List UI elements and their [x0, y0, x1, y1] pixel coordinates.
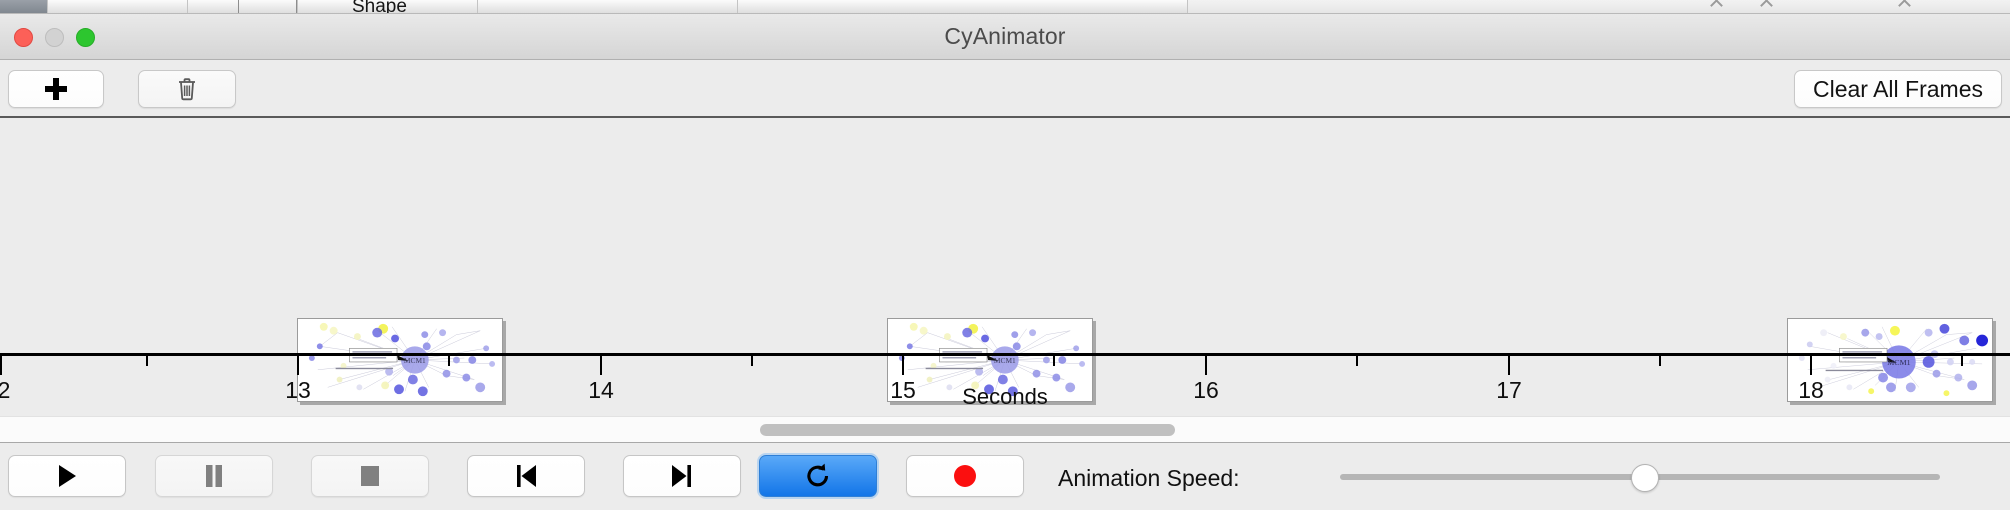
bg-segment: [478, 0, 738, 14]
scrollbar-thumb[interactable]: [760, 424, 1175, 436]
animation-speed-label: Animation Speed:: [1058, 465, 1240, 492]
skip-forward-icon: [669, 464, 695, 488]
axis-tick-minor: [146, 356, 148, 366]
trash-icon: [177, 77, 197, 101]
bg-segment: [738, 0, 1188, 14]
plus-icon: [45, 78, 67, 100]
loop-icon: [804, 462, 832, 490]
axis-tick-minor: [751, 356, 753, 366]
playback-controls: Animation Speed:: [0, 442, 2010, 508]
axis-tick-major: [1810, 356, 1812, 375]
axis-tick-minor: [1053, 356, 1055, 366]
bg-divider: [296, 0, 297, 14]
stop-icon: [359, 465, 381, 487]
bg-segment: [48, 0, 188, 14]
axis-tick-minor: [1659, 356, 1661, 366]
cyanimator-window: CyAnimator Clear All Frames: [0, 14, 2010, 510]
svg-text:MCM1: MCM1: [404, 356, 426, 365]
timeline-panel[interactable]: MCM1: [0, 118, 2010, 416]
pause-icon: [203, 464, 225, 488]
timeline-axis: 2 13 14 15 16 17 18: [0, 353, 2010, 354]
bg-segment: [0, 0, 48, 14]
add-frame-button[interactable]: [8, 70, 104, 108]
axis-tick-minor: [1356, 356, 1358, 366]
record-icon: [952, 463, 978, 489]
bg-segment: [188, 0, 298, 14]
background-window-strip: Shape: [0, 0, 2010, 14]
chevron-icon: [1898, 0, 1911, 12]
axis-title: Seconds: [0, 384, 2010, 410]
delete-frame-button[interactable]: [138, 70, 236, 108]
axis-tick-major: [0, 356, 2, 375]
axis-tick-major: [1205, 356, 1207, 375]
chevron-icon: [1760, 0, 1773, 12]
axis-tick-minor: [1961, 356, 1963, 366]
timeline-scrollbar[interactable]: [0, 416, 2010, 442]
clear-all-frames-button[interactable]: Clear All Frames: [1794, 70, 2002, 108]
play-icon: [56, 463, 78, 489]
skip-back-icon: [513, 464, 539, 488]
skip-back-button[interactable]: [467, 455, 585, 497]
axis-tick-major: [600, 356, 602, 375]
stop-button[interactable]: [311, 455, 429, 497]
frame-toolbar: Clear All Frames: [0, 60, 2010, 118]
axis-tick-major: [902, 356, 904, 375]
animation-speed-slider-thumb[interactable]: [1631, 464, 1659, 492]
window-title: CyAnimator: [0, 14, 2010, 59]
svg-text:MCM1: MCM1: [1887, 358, 1910, 367]
svg-text:MCM1: MCM1: [994, 356, 1016, 365]
pause-button[interactable]: [155, 455, 273, 497]
bg-divider: [238, 0, 239, 14]
axis-tick-major: [1508, 356, 1510, 375]
axis-tick-minor: [448, 356, 450, 366]
axis-tick-major: [297, 356, 299, 375]
skip-forward-button[interactable]: [623, 455, 741, 497]
titlebar: CyAnimator: [0, 14, 2010, 60]
record-button[interactable]: [906, 455, 1024, 497]
bg-window-label: Shape: [352, 0, 407, 14]
play-button[interactable]: [8, 455, 126, 497]
axis-line: [0, 353, 2010, 356]
loop-button[interactable]: [759, 455, 877, 497]
chevron-icon: [1710, 0, 1723, 12]
